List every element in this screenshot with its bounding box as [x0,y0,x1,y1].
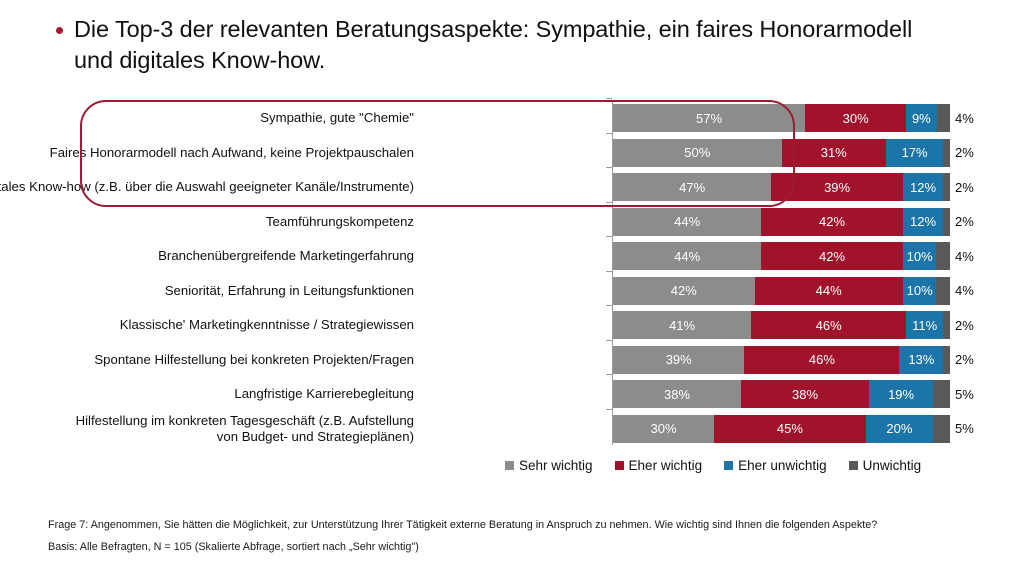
legend-swatch-icon [615,461,624,470]
axis-tick [606,133,612,134]
bar-segment-value: 44% [674,214,700,229]
bar-segment-value: 30% [651,421,677,436]
bar-outside-value: 2% [955,139,974,167]
chart-row-label: Hilfestellung im konkreten Tagesgeschäft… [0,413,414,444]
bar-segment-sehr-wichtig: 57% [613,104,805,132]
bar-segment-unwichtig: 5% [933,380,950,408]
axis-tick [606,340,612,341]
legend-swatch-icon [849,461,858,470]
bar-segment-unwichtig: 2% [943,173,950,201]
bar-segment-value: 50% [684,145,710,160]
chart-row: Digitales Know-how (z.B. über die Auswah… [0,173,1024,201]
stacked-bar: 30%45%20%5% [613,415,950,443]
bar-segment-eher-unwichtig: 12% [903,173,943,201]
bar-segment-value: 12% [910,180,936,195]
chart-row: Seniorität, Erfahrung in Leitungsfunktio… [0,277,1024,305]
axis-tick [606,98,612,99]
bar-segment-eher-unwichtig: 11% [906,311,943,339]
bar-segment-value: 11% [912,318,937,333]
bar-segment-unwichtig: 2% [943,139,950,167]
stacked-bar: 42%44%10%4% [613,277,950,305]
bar-segment-eher-wichtig: 38% [741,380,869,408]
bar-segment-eher-wichtig: 42% [761,208,903,236]
bar-segment-sehr-wichtig: 44% [613,208,761,236]
bar-segment-value: 45% [777,421,803,436]
bar-segment-value: 17% [902,145,928,160]
chart-row-label: Teamführungskompetenz [0,214,414,230]
chart-row: Sympathie, gute "Chemie"57%30%9%4%4% [0,104,1024,132]
bar-segment-value: 42% [819,214,845,229]
legend-item[interactable]: Eher unwichtig [724,458,827,473]
slide-title-text: Die Top-3 der relevanten Beratungsaspekt… [74,14,956,76]
stacked-bar: 47%39%12%2% [613,173,950,201]
bar-segment-value: 30% [843,111,869,126]
legend-swatch-icon [505,461,514,470]
bar-segment-sehr-wichtig: 30% [613,415,714,443]
chart-row-label: Digitales Know-how (z.B. über die Auswah… [0,179,414,195]
bar-outside-value: 2% [955,173,974,201]
bar-segment-sehr-wichtig: 42% [613,277,755,305]
stacked-bar: 44%42%12%2% [613,208,950,236]
bar-segment-eher-unwichtig: 19% [869,380,933,408]
bar-segment-unwichtig: 5% [933,415,950,443]
bar-segment-value: 44% [816,283,842,298]
bar-segment-value: 46% [816,318,842,333]
bar-outside-value: 2% [955,346,974,374]
bar-segment-eher-wichtig: 45% [714,415,866,443]
bar-segment-eher-wichtig: 44% [755,277,903,305]
stacked-bar: 41%46%11%2% [613,311,950,339]
footnote: Frage 7: Angenommen, Sie hätten die Mögl… [48,518,978,554]
chart-row: Faires Honorarmodell nach Aufwand, keine… [0,139,1024,167]
chart-row: Klassische' Marketingkenntnisse / Strate… [0,311,1024,339]
legend-label: Eher wichtig [629,458,703,473]
bar-segment-eher-wichtig: 46% [751,311,906,339]
legend-item[interactable]: Eher wichtig [615,458,703,473]
bar-segment-sehr-wichtig: 44% [613,242,761,270]
chart-row: Langfristige Karrierebegleitung38%38%19%… [0,380,1024,408]
bar-segment-eher-unwichtig: 17% [886,139,943,167]
axis-tick [606,409,612,410]
bullet-icon [56,27,63,34]
bar-outside-value: 4% [955,242,974,270]
footnote-question: Frage 7: Angenommen, Sie hätten die Mögl… [48,518,978,533]
bar-segment-eher-wichtig: 31% [782,139,886,167]
chart-row-label: Langfristige Karrierebegleitung [0,386,414,402]
bar-segment-sehr-wichtig: 41% [613,311,751,339]
axis-tick [606,202,612,203]
stacked-bar: 39%46%13%2% [613,346,950,374]
slide-title: Die Top-3 der relevanten Beratungsaspekt… [56,14,956,76]
bar-segment-unwichtig: 4% [937,104,950,132]
axis-tick [606,236,612,237]
bar-segment-eher-wichtig: 42% [761,242,903,270]
bar-segment-sehr-wichtig: 39% [613,346,744,374]
bar-segment-eher-unwichtig: 20% [866,415,933,443]
bar-segment-unwichtig: 2% [943,208,950,236]
bar-segment-value: 39% [666,352,692,367]
bar-segment-value: 10% [907,249,933,264]
chart-row-label: Faires Honorarmodell nach Aufwand, keine… [0,145,414,161]
bar-segment-eher-wichtig: 30% [805,104,906,132]
stacked-bar-chart: Sympathie, gute "Chemie"57%30%9%4%4%Fair… [0,100,1024,452]
chart-legend: Sehr wichtigEher wichtigEher unwichtigUn… [505,458,921,473]
bar-outside-value: 4% [955,277,974,305]
axis-tick [606,271,612,272]
bar-segment-value: 46% [809,352,835,367]
legend-label: Unwichtig [863,458,922,473]
chart-row: Hilfestellung im konkreten Tagesgeschäft… [0,415,1024,443]
bar-segment-sehr-wichtig: 47% [613,173,771,201]
bar-outside-value: 2% [955,208,974,236]
legend-label: Eher unwichtig [738,458,827,473]
bar-segment-eher-unwichtig: 10% [903,242,937,270]
chart-row: Branchenübergreifende Marketingerfahrung… [0,242,1024,270]
bar-segment-value: 12% [910,214,936,229]
chart-row: Spontane Hilfestellung bei konkreten Pro… [0,346,1024,374]
chart-row-label: Klassische' Marketingkenntnisse / Strate… [0,317,414,333]
bar-segment-eher-unwichtig: 13% [899,346,943,374]
bar-segment-value: 10% [907,283,933,298]
bar-segment-unwichtig: 4% [936,277,949,305]
bar-segment-value: 39% [824,180,850,195]
bar-segment-value: 42% [819,249,845,264]
axis-tick [606,167,612,168]
legend-item[interactable]: Unwichtig [849,458,922,473]
bar-outside-value: 2% [955,311,974,339]
bar-segment-value: 47% [679,180,705,195]
stacked-bar: 50%31%17%2% [613,139,950,167]
legend-item[interactable]: Sehr wichtig [505,458,593,473]
bar-segment-value: 38% [792,387,818,402]
bar-segment-eher-unwichtig: 12% [903,208,943,236]
bar-segment-value: 44% [674,249,700,264]
bar-segment-value: 9% [912,111,931,126]
bar-segment-eher-wichtig: 39% [771,173,902,201]
slide-canvas: Die Top-3 der relevanten Beratungsaspekt… [0,0,1024,576]
bar-segment-value: 19% [888,387,914,402]
bar-segment-value: 20% [886,421,912,436]
footnote-basis: Basis: Alle Befragten, N = 105 (Skaliert… [48,540,978,555]
axis-tick [606,374,612,375]
chart-row-label: Seniorität, Erfahrung in Leitungsfunktio… [0,283,414,299]
bar-segment-unwichtig: 2% [943,311,950,339]
bar-segment-value: 31% [821,145,847,160]
stacked-bar: 44%42%10%4% [613,242,950,270]
bar-segment-sehr-wichtig: 50% [613,139,782,167]
bar-segment-unwichtig: 4% [936,242,949,270]
bar-outside-value: 5% [955,380,974,408]
chart-row: Teamführungskompetenz44%42%12%2%2% [0,208,1024,236]
bar-outside-value: 5% [955,415,974,443]
stacked-bar: 57%30%9%4% [613,104,950,132]
chart-row-label: Sympathie, gute "Chemie" [0,110,414,126]
chart-row-label: Branchenübergreifende Marketingerfahrung [0,248,414,264]
bar-segment-value: 42% [671,283,697,298]
bar-segment-sehr-wichtig: 38% [613,380,741,408]
legend-label: Sehr wichtig [519,458,593,473]
bar-segment-eher-wichtig: 46% [744,346,899,374]
bar-segment-value: 38% [664,387,690,402]
legend-swatch-icon [724,461,733,470]
bar-segment-value: 57% [696,111,722,126]
axis-tick [606,305,612,306]
bar-outside-value: 4% [955,104,974,132]
bar-segment-eher-unwichtig: 9% [906,104,936,132]
bar-segment-eher-unwichtig: 10% [903,277,937,305]
bar-segment-value: 13% [908,352,934,367]
stacked-bar: 38%38%19%5% [613,380,950,408]
bar-segment-unwichtig: 2% [943,346,950,374]
chart-row-label: Spontane Hilfestellung bei konkreten Pro… [0,352,414,368]
bar-segment-value: 41% [669,318,695,333]
